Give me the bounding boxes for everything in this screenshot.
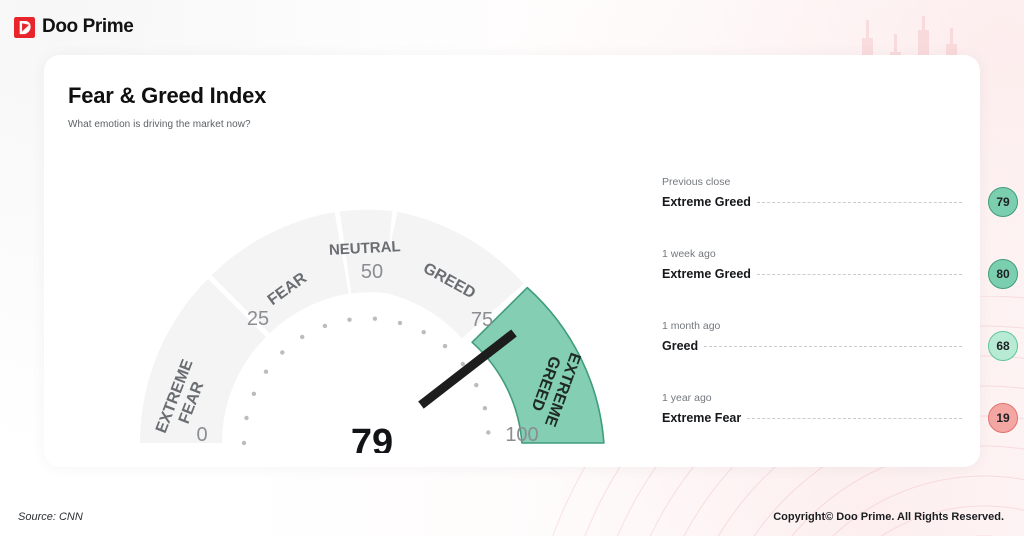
gauge-svg: EXTREMEFEAR FEAR NEUTRAL GREED EXTREMEGR… bbox=[62, 143, 662, 453]
row-sentiment-label: Extreme Greed bbox=[662, 267, 757, 281]
fear-greed-gauge: EXTREMEFEAR FEAR NEUTRAL GREED EXTREMEGR… bbox=[62, 143, 662, 453]
row-sentiment-label: Greed bbox=[662, 339, 704, 353]
fear-greed-card: Fear & Greed Index What emotion is drivi… bbox=[44, 55, 980, 467]
row-leader-dots bbox=[757, 274, 962, 275]
comparison-row: 1 week ago Extreme Greed 80 bbox=[662, 247, 962, 319]
page-title: Fear & Greed Index bbox=[68, 83, 266, 109]
row-age-label: 1 week ago bbox=[662, 247, 962, 261]
brand-name: Doo Prime bbox=[42, 16, 133, 38]
status-badge: 79 bbox=[988, 187, 1018, 217]
comparison-panel: Previous close Extreme Greed 79 1 week a… bbox=[662, 175, 962, 463]
comparison-row: 1 month ago Greed 68 bbox=[662, 319, 962, 391]
comparison-row: 1 year ago Extreme Fear 19 bbox=[662, 391, 962, 463]
gauge-tick-75: 75 bbox=[471, 309, 493, 331]
source-attribution: Source: CNN bbox=[18, 511, 83, 523]
comparison-row: Previous close Extreme Greed 79 bbox=[662, 175, 962, 247]
row-sentiment-label: Extreme Greed bbox=[662, 195, 757, 209]
row-leader-dots bbox=[757, 202, 962, 203]
row-age-label: 1 year ago bbox=[662, 391, 962, 405]
status-badge: 80 bbox=[988, 259, 1018, 289]
gauge-tick-25: 25 bbox=[247, 308, 269, 330]
gauge-tick-50: 50 bbox=[361, 261, 383, 283]
brand-logo[interactable]: Doo Prime bbox=[14, 16, 133, 38]
row-leader-dots bbox=[747, 418, 962, 419]
gauge-value: 79 bbox=[351, 422, 393, 453]
status-badge: 19 bbox=[988, 403, 1018, 433]
row-leader-dots bbox=[704, 346, 962, 347]
page-subtitle: What emotion is driving the market now? bbox=[68, 119, 251, 130]
status-badge: 68 bbox=[988, 331, 1018, 361]
gauge-tick-0: 0 bbox=[196, 424, 207, 446]
row-sentiment-label: Extreme Fear bbox=[662, 411, 747, 425]
copyright-notice: Copyright© Doo Prime. All Rights Reserve… bbox=[773, 511, 1004, 523]
doo-prime-mark-icon bbox=[14, 17, 35, 38]
screenshot-root: Doo Prime Fear & Greed Index What emotio… bbox=[0, 0, 1024, 536]
row-age-label: Previous close bbox=[662, 175, 962, 189]
row-age-label: 1 month ago bbox=[662, 319, 962, 333]
gauge-tick-100: 100 bbox=[505, 424, 538, 446]
